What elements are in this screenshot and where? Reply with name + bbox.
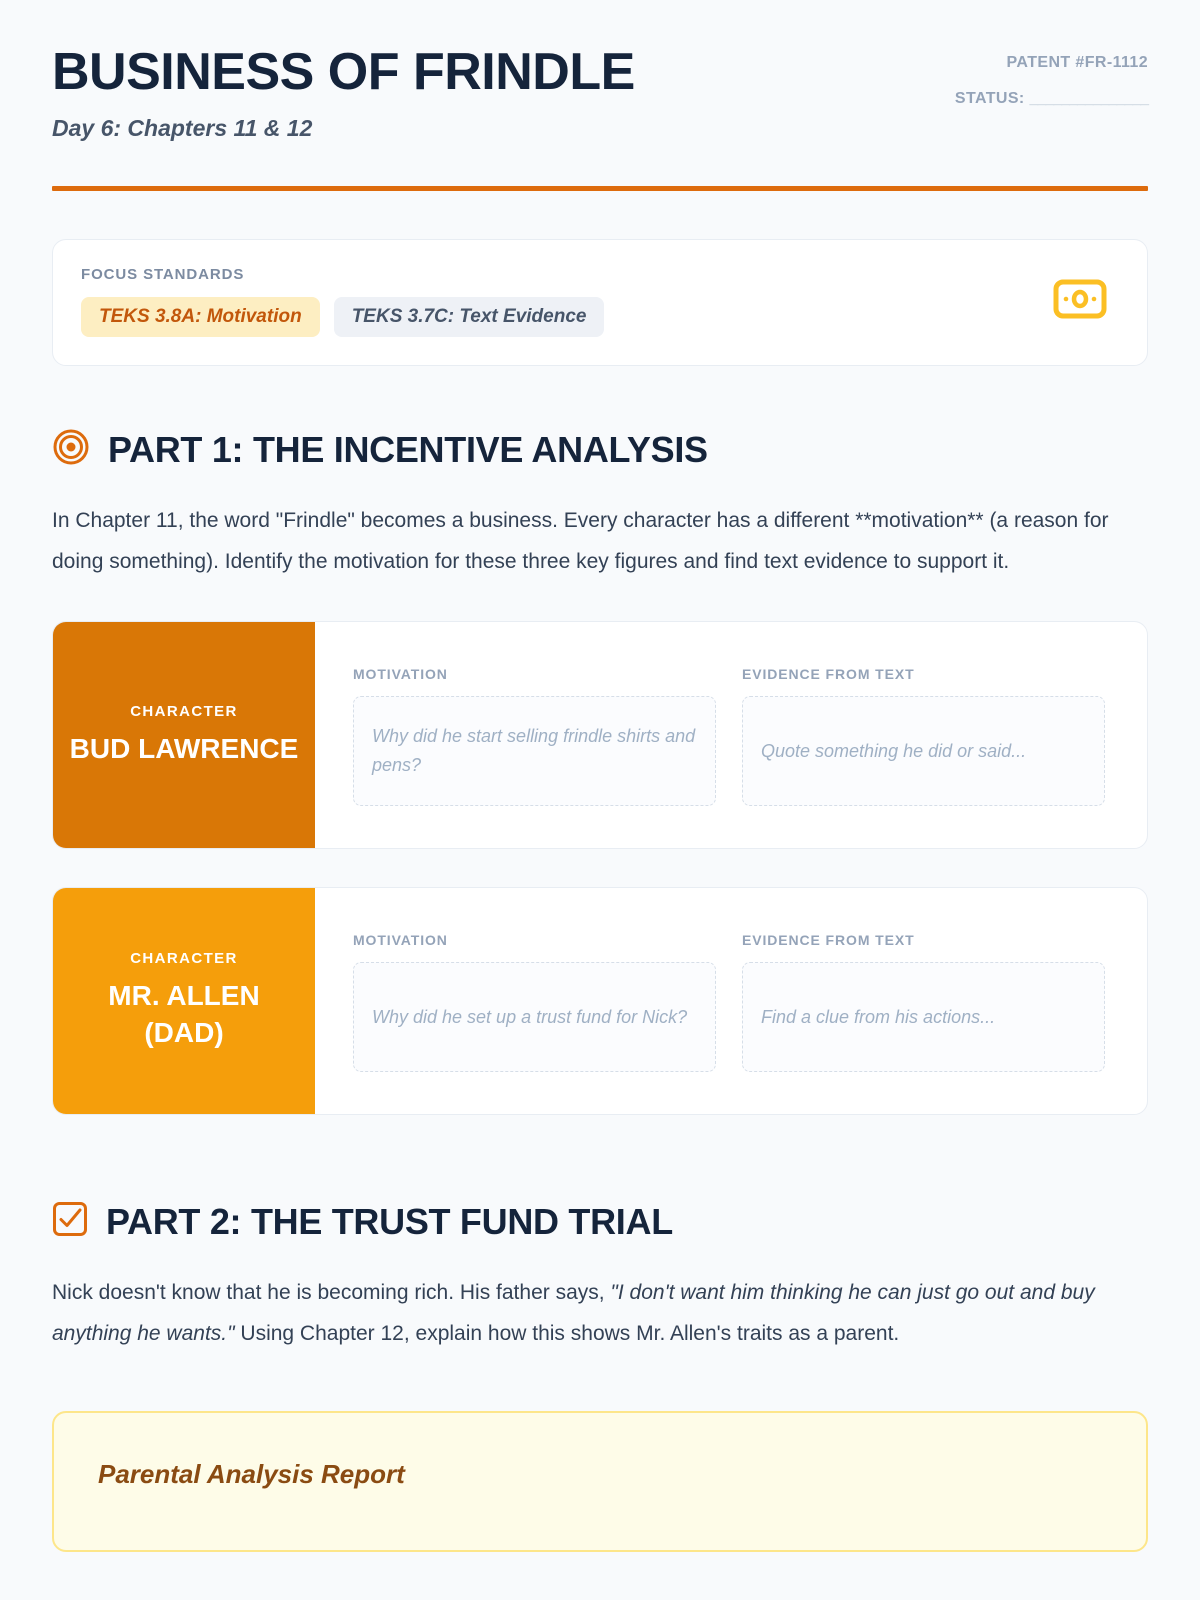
- page-title: BUSINESS OF FRINDLE: [52, 46, 635, 99]
- motivation-input[interactable]: Why did he set up a trust fund for Nick?: [353, 962, 716, 1072]
- evidence-label: EVIDENCE FROM TEXT: [742, 666, 1105, 682]
- part2-intro: Nick doesn't know that he is becoming ri…: [52, 1273, 1148, 1355]
- character-name-panel: CHARACTER MR. ALLEN (DAD): [53, 888, 315, 1114]
- evidence-field: EVIDENCE FROM TEXT Quote something he di…: [742, 666, 1105, 806]
- character-card-mr-allen: CHARACTER MR. ALLEN (DAD) MOTIVATION Why…: [52, 887, 1148, 1115]
- evidence-placeholder: Quote something he did or said...: [761, 737, 1026, 766]
- header-meta: PATENT #FR-1112 STATUS: _______________: [955, 40, 1148, 108]
- report-title: Parental Analysis Report: [98, 1459, 1102, 1490]
- header-left: BUSINESS OF FRINDLE Day 6: Chapters 11 &…: [52, 40, 635, 142]
- evidence-field: EVIDENCE FROM TEXT Find a clue from his …: [742, 932, 1105, 1072]
- status-label: STATUS:: [955, 90, 1025, 107]
- part2-intro-after: Using Chapter 12, explain how this shows…: [235, 1322, 900, 1345]
- status-blank-line[interactable]: _______________: [1030, 90, 1148, 107]
- page-header: BUSINESS OF FRINDLE Day 6: Chapters 11 &…: [52, 40, 1148, 142]
- part1-heading: PART 1: THE INCENTIVE ANALYSIS: [52, 428, 1148, 471]
- check-square-icon: [52, 1201, 88, 1242]
- motivation-label: MOTIVATION: [353, 932, 716, 948]
- patent-number: PATENT #FR-1112: [955, 54, 1148, 72]
- focus-standards-card: FOCUS STANDARDS TEKS 3.8A: Motivation TE…: [52, 239, 1148, 366]
- evidence-placeholder: Find a clue from his actions...: [761, 1003, 995, 1032]
- part1-title: PART 1: THE INCENTIVE ANALYSIS: [108, 429, 708, 471]
- evidence-input[interactable]: Find a clue from his actions...: [742, 962, 1105, 1072]
- part1-intro: In Chapter 11, the word "Frindle" become…: [52, 501, 1148, 583]
- character-fields: MOTIVATION Why did he set up a trust fun…: [315, 888, 1147, 1114]
- character-name: BUD LAWRENCE: [70, 730, 299, 768]
- standard-badge-motivation[interactable]: TEKS 3.8A: Motivation: [81, 297, 320, 337]
- character-name-panel: CHARACTER BUD LAWRENCE: [53, 622, 315, 848]
- evidence-input[interactable]: Quote something he did or said...: [742, 696, 1105, 806]
- focus-standards-label: FOCUS STANDARDS: [81, 266, 604, 283]
- motivation-field: MOTIVATION Why did he start selling frin…: [353, 666, 716, 806]
- part2-heading: PART 2: THE TRUST FUND TRIAL: [52, 1201, 1148, 1243]
- standard-badge-text-evidence[interactable]: TEKS 3.7C: Text Evidence: [334, 297, 605, 337]
- part2-intro-before: Nick doesn't know that he is becoming ri…: [52, 1281, 610, 1304]
- standards-badge-list: TEKS 3.8A: Motivation TEKS 3.7C: Text Ev…: [81, 297, 604, 337]
- character-card-bud-lawrence: CHARACTER BUD LAWRENCE MOTIVATION Why di…: [52, 621, 1148, 849]
- character-name: MR. ALLEN (DAD): [67, 977, 301, 1053]
- character-kicker: CHARACTER: [130, 703, 238, 720]
- motivation-placeholder: Why did he start selling frindle shirts …: [372, 722, 697, 780]
- evidence-label: EVIDENCE FROM TEXT: [742, 932, 1105, 948]
- page-subtitle: Day 6: Chapters 11 & 12: [52, 115, 635, 142]
- money-banknote-icon: [1053, 279, 1107, 324]
- motivation-label: MOTIVATION: [353, 666, 716, 682]
- character-fields: MOTIVATION Why did he start selling frin…: [315, 622, 1147, 848]
- parental-analysis-report-card: Parental Analysis Report: [52, 1411, 1148, 1552]
- part2-title: PART 2: THE TRUST FUND TRIAL: [106, 1201, 673, 1243]
- motivation-field: MOTIVATION Why did he set up a trust fun…: [353, 932, 716, 1072]
- target-bullseye-icon: [52, 428, 90, 471]
- header-divider: [52, 186, 1148, 191]
- worksheet-page: BUSINESS OF FRINDLE Day 6: Chapters 11 &…: [0, 0, 1200, 1552]
- character-kicker: CHARACTER: [130, 950, 238, 967]
- motivation-placeholder: Why did he set up a trust fund for Nick?: [372, 1003, 687, 1032]
- status-field: STATUS: _______________: [955, 90, 1148, 108]
- motivation-input[interactable]: Why did he start selling frindle shirts …: [353, 696, 716, 806]
- standards-content: FOCUS STANDARDS TEKS 3.8A: Motivation TE…: [81, 266, 604, 337]
